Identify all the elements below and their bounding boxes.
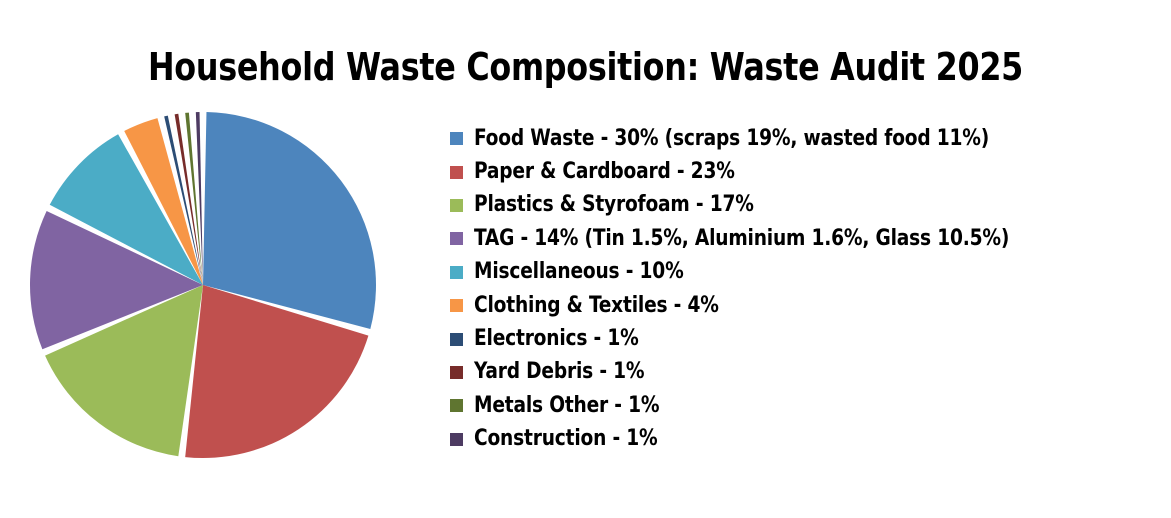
legend-item[interactable]: Miscellaneous - 10% [450,256,1150,289]
legend-item[interactable]: Metals Other - 1% [450,389,1150,422]
legend-color-swatch-icon [450,132,463,145]
legend-item-label: Miscellaneous - 10% [474,261,684,283]
legend-item-label: Construction - 1% [474,428,657,450]
chart-legend: Food Waste - 30% (scraps 19%, wasted foo… [450,122,1150,456]
legend-item-label: Plastics & Styrofoam - 17% [474,194,754,216]
legend-item-label: Paper & Cardboard - 23% [474,161,735,183]
pie-slice[interactable]: Construction - 1% [196,112,203,285]
legend-color-swatch-icon [450,433,463,446]
legend-item[interactable]: Clothing & Textiles - 4% [450,289,1150,322]
legend-item-label: Food Waste - 30% (scraps 19%, wasted foo… [474,128,989,150]
legend-item[interactable]: Electronics - 1% [450,322,1150,355]
legend-color-swatch-icon [450,333,463,346]
legend-item-label: Electronics - 1% [474,328,639,350]
legend-item-label: Clothing & Textiles - 4% [474,295,719,317]
legend-item-label: Metals Other - 1% [474,395,659,417]
legend-color-swatch-icon [450,199,463,212]
legend-item[interactable]: Construction - 1% [450,423,1150,456]
legend-item[interactable]: Plastics & Styrofoam - 17% [450,189,1150,222]
legend-color-swatch-icon [450,366,463,379]
legend-color-swatch-icon [450,232,463,245]
legend-color-swatch-icon [450,266,463,279]
pie-slices-group: Food Waste - 30%Paper & Cardboard - 23%P… [30,112,376,458]
legend-color-swatch-icon [450,299,463,312]
chart-title: Household Waste Composition: Waste Audit… [41,48,1130,88]
pie-svg: Food Waste - 30%Paper & Cardboard - 23%P… [24,104,384,470]
legend-color-swatch-icon [450,399,463,412]
legend-item[interactable]: TAG - 14% (Tin 1.5%, Aluminium 1.6%, Gla… [450,222,1150,255]
legend-item-label: Yard Debris - 1% [474,361,644,383]
legend-item-label: TAG - 14% (Tin 1.5%, Aluminium 1.6%, Gla… [474,228,1009,250]
pie-chart-figure: Household Waste Composition: Waste Audit… [0,0,1171,518]
pie-plot-area: Food Waste - 30%Paper & Cardboard - 23%P… [24,104,384,470]
legend-item[interactable]: Yard Debris - 1% [450,356,1150,389]
legend-item[interactable]: Paper & Cardboard - 23% [450,155,1150,188]
legend-item[interactable]: Food Waste - 30% (scraps 19%, wasted foo… [450,122,1150,155]
legend-color-swatch-icon [450,166,463,179]
